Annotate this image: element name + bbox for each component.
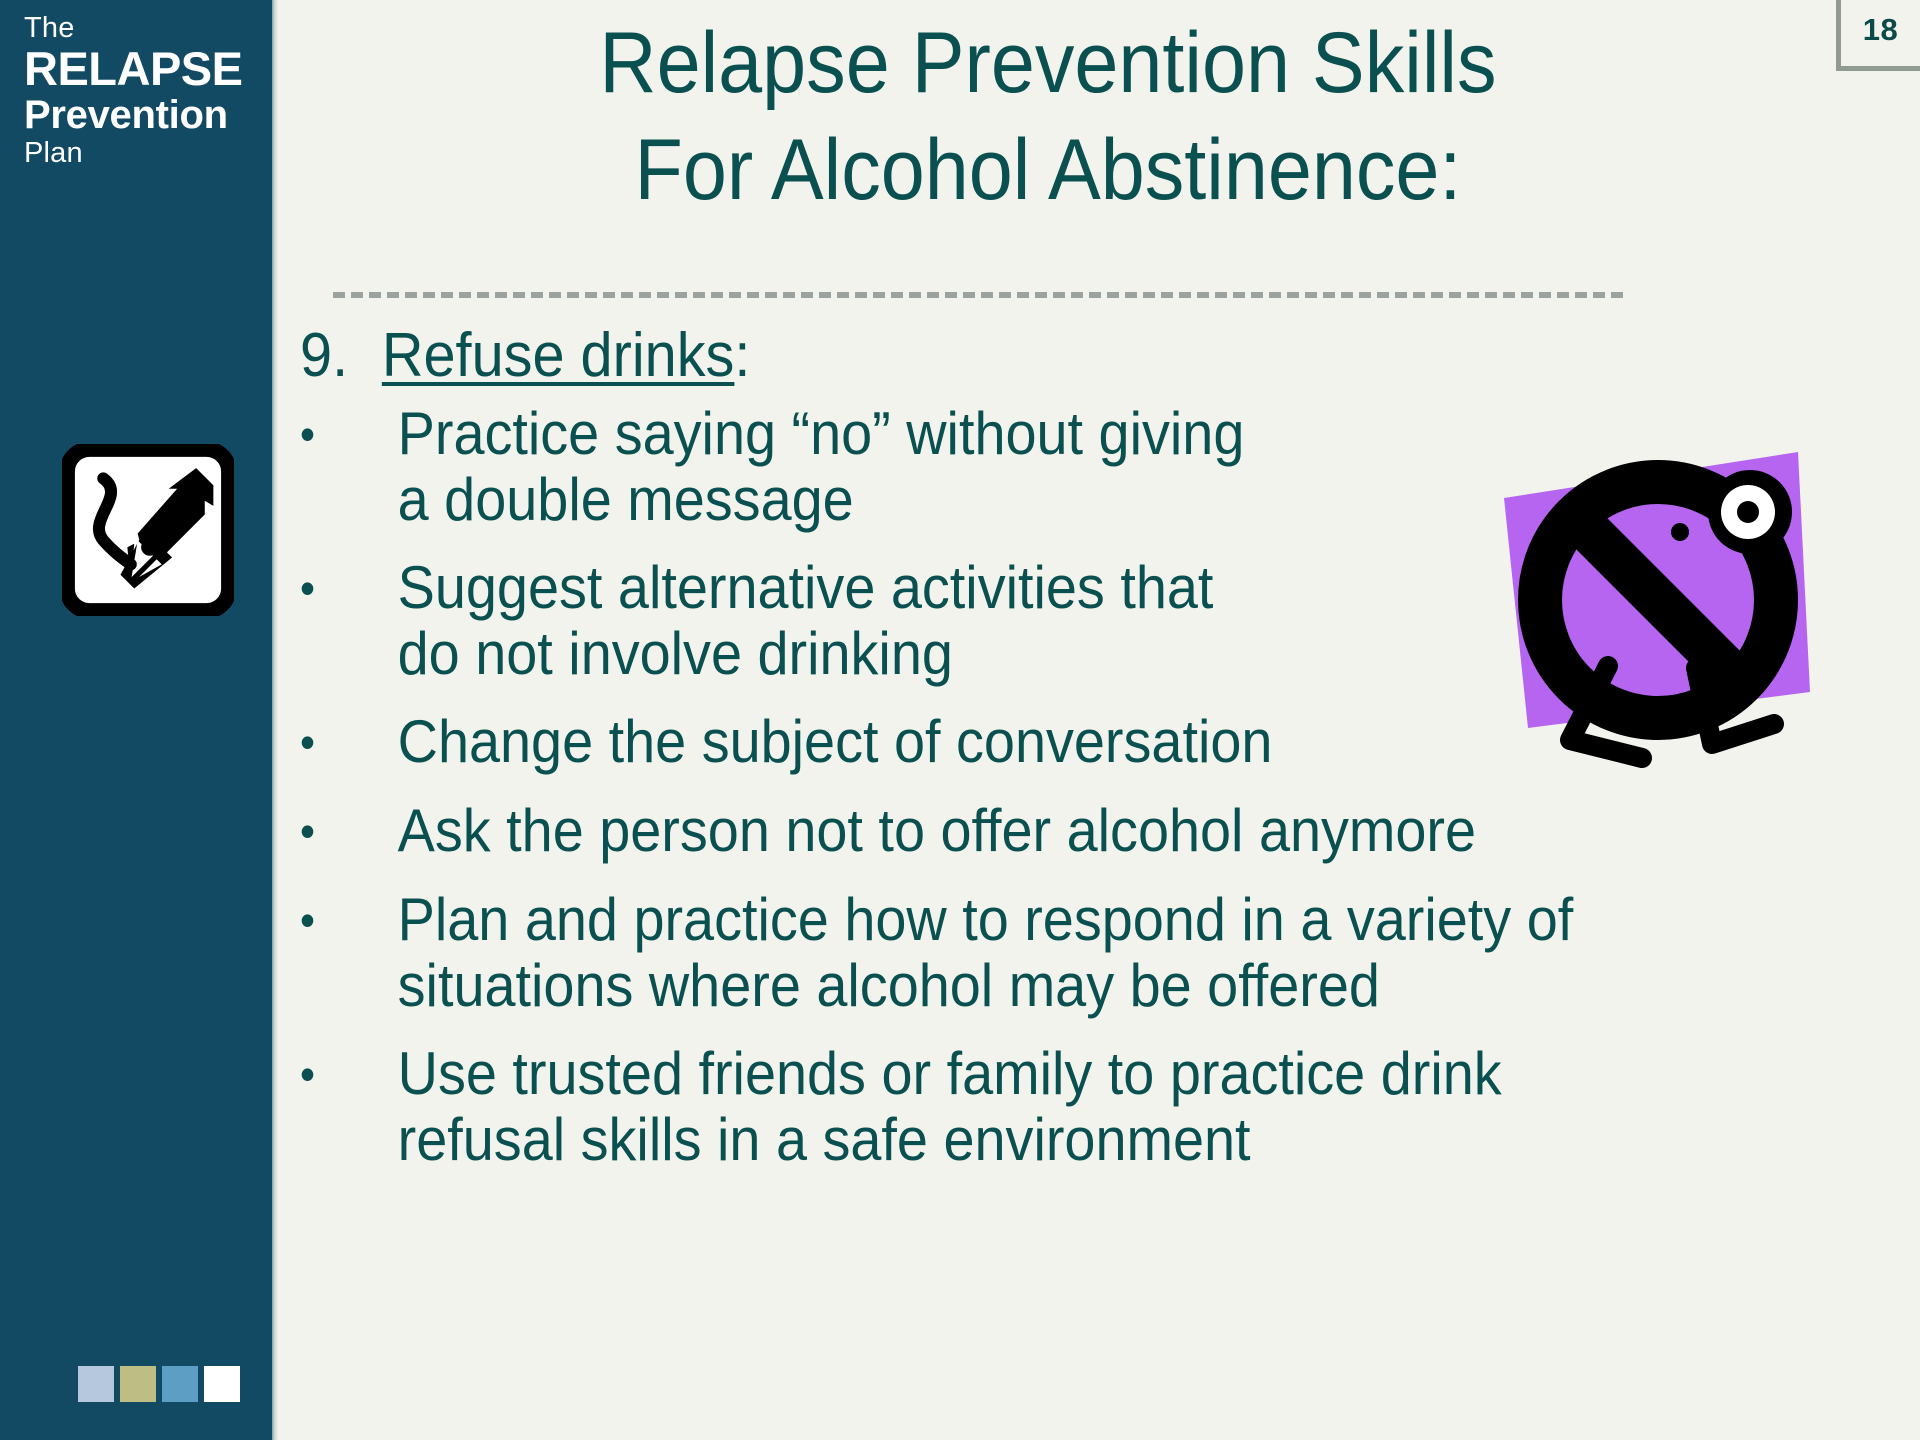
list-item: • Use trusted friends or family to pract… <box>300 1041 1695 1173</box>
title-line-2: For Alcohol Abstinence: <box>340 117 1757 224</box>
fountain-pen-nib-icon <box>62 444 234 616</box>
relapse-prevention-plan-logo: The RELAPSE Prevention Plan <box>24 14 264 168</box>
sidebar-edge-highlight <box>272 0 278 1440</box>
section-number: 9. <box>300 324 382 387</box>
bullet-marker: • <box>300 798 398 865</box>
list-item: • Practice saying “no” without giving a … <box>300 401 1695 533</box>
swatch-khaki <box>120 1366 156 1402</box>
title-line-1: Relapse Prevention Skills <box>340 10 1757 117</box>
bullet-text: Use trusted friends or family to practic… <box>398 1041 1695 1173</box>
section-heading: 9. Refuse drinks: <box>300 324 1695 387</box>
bullet-marker: • <box>300 1041 398 1108</box>
logo-line-prevention: Prevention <box>24 94 264 136</box>
logo-line-the: The <box>24 14 264 43</box>
page-number-box: 18 <box>1836 0 1920 71</box>
page-title: Relapse Prevention Skills For Alcohol Ab… <box>340 10 1757 223</box>
page-number: 18 <box>1863 12 1898 52</box>
list-item: • Change the subject of conversation <box>300 709 1695 776</box>
section-heading-underlined: Refuse drinks <box>382 321 735 390</box>
sidebar <box>0 0 272 1440</box>
list-item: • Plan and practice how to respond in a … <box>300 887 1695 1019</box>
logo-line-plan: Plan <box>24 139 264 168</box>
list-item: • Ask the person not to offer alcohol an… <box>300 798 1695 865</box>
swatch-light-blue <box>78 1366 114 1402</box>
slide: The RELAPSE Prevention Plan 18 <box>0 0 1920 1440</box>
bullet-marker: • <box>300 709 398 776</box>
logo-line-relapse: RELAPSE <box>24 45 264 93</box>
bullet-text: Plan and practice how to respond in a va… <box>398 887 1695 1019</box>
bullet-marker: • <box>300 401 398 468</box>
section-heading-text: Refuse drinks: <box>382 324 751 387</box>
color-swatch-row <box>78 1366 240 1402</box>
bullet-marker: • <box>300 555 398 622</box>
bullet-marker: • <box>300 887 398 954</box>
list-item: • Suggest alternative activities that do… <box>300 555 1695 687</box>
swatch-white <box>204 1366 240 1402</box>
section-heading-colon: : <box>734 321 750 390</box>
bullet-text: Ask the person not to offer alcohol anym… <box>398 798 1695 864</box>
dashed-divider <box>333 292 1623 298</box>
swatch-blue <box>162 1366 198 1402</box>
no-alcohol-prohibition-character-icon <box>1500 440 1840 770</box>
